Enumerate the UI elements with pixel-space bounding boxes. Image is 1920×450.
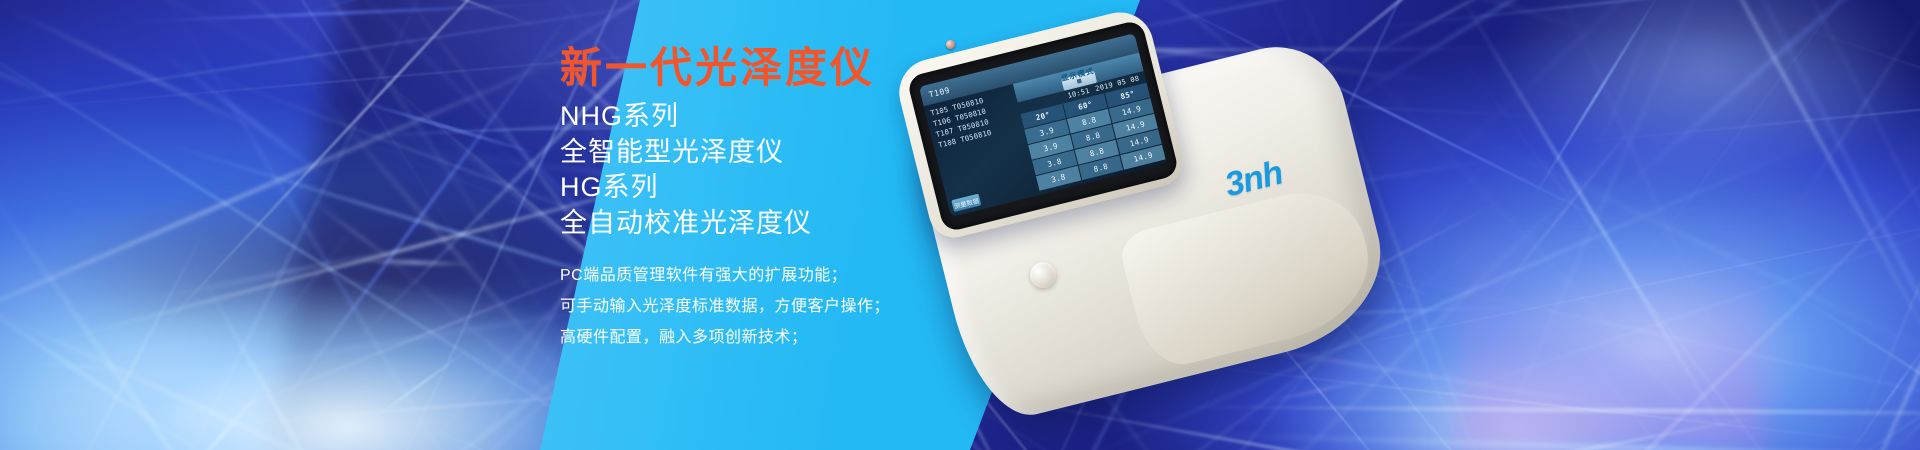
screen-title: T109 bbox=[928, 85, 951, 99]
gloss-meter-device: T109 T105 T050810 T106 T050810 T107 T050… bbox=[880, 10, 1420, 430]
product-banner: 新一代光泽度仪 NHG系列 全智能型光泽度仪 HG系列 全自动校准光泽度仪 PC… bbox=[0, 0, 1920, 450]
sensor-indicator-icon bbox=[945, 39, 956, 50]
